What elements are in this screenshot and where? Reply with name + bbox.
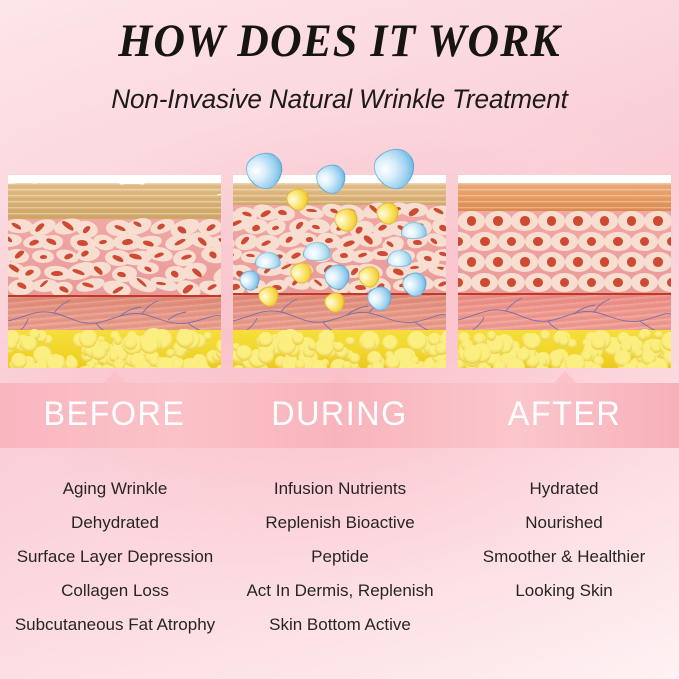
bullet-item: Looking Skin [451,574,677,608]
water-droplet-icon [367,140,424,197]
bullet-item: Subcutaneous Fat Atrophy [2,608,228,642]
bullet-column-before: Aging Wrinkle Dehydrated Surface Layer D… [2,472,228,642]
bullet-item: Act In Dermis, Replenish [227,574,453,608]
stage-bullet-columns: Aging Wrinkle Dehydrated Surface Layer D… [0,472,679,662]
pointer-notch-during-icon [329,371,351,383]
fat-layer-after [458,330,671,368]
water-droplet-icon [387,250,412,267]
oil-droplet-icon [372,197,403,228]
bullet-item: Peptide [227,540,453,574]
water-droplet-icon [311,158,352,199]
fat-bubbles [458,330,671,368]
dermis-cells-irregular [8,219,221,295]
blood-vessel-icon [458,295,671,335]
bullet-column-after: Hydrated Nourished Smoother & Healthier … [451,472,677,608]
epidermis-layer-wavy [8,183,221,223]
water-droplet-icon [303,242,331,261]
water-droplet-icon [240,145,291,196]
bullet-item: Infusion Nutrients [227,472,453,506]
bullet-column-during: Infusion Nutrients Replenish Bioactive P… [227,472,453,642]
water-droplet-icon [401,222,427,239]
bullet-item: Replenish Bioactive [227,506,453,540]
dermis-layer-after [458,211,671,293]
bullet-item: Collagen Loss [2,574,228,608]
bullet-item: Aging Wrinkle [2,472,228,506]
dermis-layer-before [8,219,221,295]
fat-bubbles [8,330,221,368]
fat-layer-before [8,330,221,368]
fat-layer-during [233,330,446,368]
bullet-item: Dehydrated [2,506,228,540]
bullet-item: Hydrated [451,472,677,506]
oil-droplet-icon [282,183,313,214]
bullet-item: Nourished [451,506,677,540]
skin-illustration-before [8,175,221,368]
stage-label-during: DURING [238,395,440,434]
stage-label-before: BEFORE [13,395,215,434]
skin-illustration-after [458,175,671,368]
water-droplet-icon [255,252,281,269]
bullet-item: Surface Layer Depression [2,540,228,574]
bullet-item: Smoother & Healthier [451,540,677,574]
epidermis-layer-smooth [458,183,671,213]
dermis-cells-regular [458,211,671,293]
bullet-item: Skin Bottom Active [227,608,453,642]
infographic-poster: HOW DOES IT WORK Non-Invasive Natural Wr… [0,0,679,679]
pointer-notch-after-icon [554,371,576,383]
serum-droplets-group [225,0,438,230]
fat-bubbles [233,330,446,368]
pointer-notch-before-icon [104,371,126,383]
stage-label-after: AFTER [463,395,665,434]
